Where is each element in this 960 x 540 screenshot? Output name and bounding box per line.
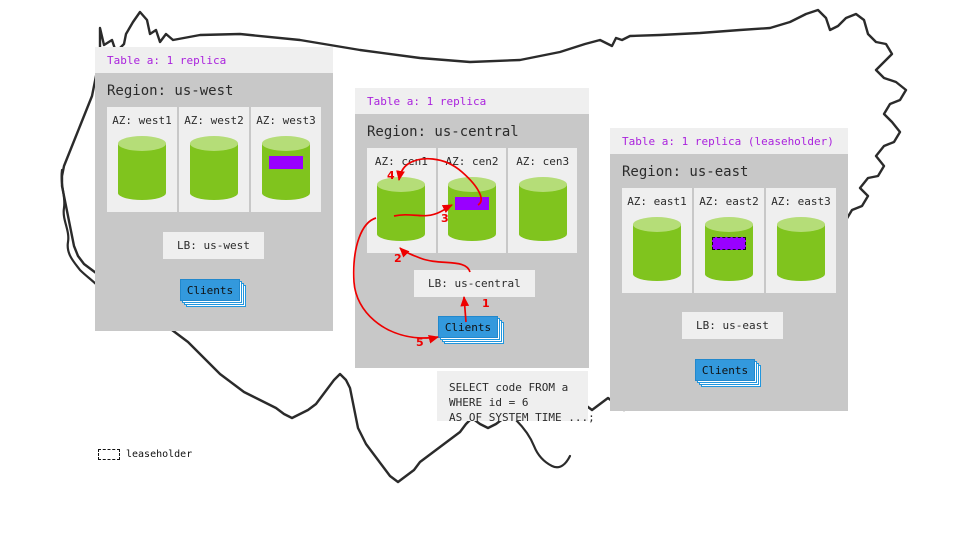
db-node-cylinder-icon[interactable]: [777, 217, 825, 279]
region-header-us-east: Table a: 1 replica (leaseholder): [610, 128, 848, 154]
az-label: AZ: west3: [256, 114, 316, 127]
diagram-canvas: Table a: 1 replica Region: us-west AZ: w…: [0, 0, 960, 540]
az-label: AZ: east1: [627, 195, 687, 208]
db-node-cylinder-icon[interactable]: [190, 136, 238, 198]
arrow-label-2: 2: [394, 252, 402, 265]
db-node-cylinder-icon[interactable]: [633, 217, 681, 279]
az-label: AZ: east3: [771, 195, 831, 208]
clients-box-us-central[interactable]: Clients: [438, 316, 498, 338]
az-east1[interactable]: AZ: east1: [622, 188, 692, 293]
cylinder-top: [633, 217, 681, 232]
sql-query-box: SELECT code FROM a WHERE id = 6 AS OF SY…: [437, 371, 588, 421]
cylinder-top: [448, 177, 496, 192]
az-label: AZ: west2: [184, 114, 244, 127]
region-panel-us-central: Table a: 1 replica Region: us-central AZ…: [355, 88, 589, 368]
replica-badge-west3: [269, 156, 303, 169]
az-row-us-west: AZ: west1 AZ: west2 AZ: west3: [107, 107, 321, 212]
legend-leaseholder: leaseholder: [98, 449, 192, 460]
db-node-cylinder-icon[interactable]: [262, 136, 310, 198]
db-node-cylinder-icon[interactable]: [448, 177, 496, 239]
az-west2[interactable]: AZ: west2: [179, 107, 249, 212]
cylinder-top: [118, 136, 166, 151]
region-header-us-west: Table a: 1 replica: [95, 47, 333, 73]
region-title-us-west: Region: us-west: [95, 73, 333, 107]
az-west3[interactable]: AZ: west3: [251, 107, 321, 212]
clients-box-us-west[interactable]: Clients: [180, 279, 240, 301]
cylinder-top: [377, 177, 425, 192]
az-east2[interactable]: AZ: east2: [694, 188, 764, 293]
az-label: AZ: cen1: [375, 155, 428, 168]
az-east3[interactable]: AZ: east3: [766, 188, 836, 293]
db-node-cylinder-icon[interactable]: [118, 136, 166, 198]
db-node-cylinder-icon[interactable]: [377, 177, 425, 239]
cylinder-top: [190, 136, 238, 151]
az-row-us-east: AZ: east1 AZ: east2 AZ: east3: [622, 188, 836, 293]
db-node-cylinder-icon[interactable]: [705, 217, 753, 279]
arrow-label-3: 3: [441, 212, 449, 225]
arrow-label-4: 4: [387, 169, 395, 182]
load-balancer-us-east[interactable]: LB: us-east: [682, 312, 783, 339]
az-label: AZ: cen3: [516, 155, 569, 168]
az-cen2[interactable]: AZ: cen2: [438, 148, 507, 253]
cylinder-top: [262, 136, 310, 151]
replica-badge-cen2: [455, 197, 489, 210]
cylinder-top: [777, 217, 825, 232]
clients-box-us-east[interactable]: Clients: [695, 359, 755, 381]
dashed-rectangle-icon: [98, 449, 120, 460]
region-title-us-central: Region: us-central: [355, 114, 589, 148]
region-title-us-east: Region: us-east: [610, 154, 848, 188]
az-cen1[interactable]: AZ: cen1: [367, 148, 436, 253]
az-row-us-central: AZ: cen1 AZ: cen2 AZ: cen3: [367, 148, 577, 253]
replica-badge-leaseholder-east2: [712, 237, 746, 250]
region-header-us-central: Table a: 1 replica: [355, 88, 589, 114]
load-balancer-us-central[interactable]: LB: us-central: [414, 270, 535, 297]
region-panel-us-east: Table a: 1 replica (leaseholder) Region:…: [610, 128, 848, 411]
clients-stack-us-east[interactable]: Clients: [695, 359, 763, 389]
az-label: AZ: cen2: [446, 155, 499, 168]
arrow-label-1: 1: [482, 297, 490, 310]
cylinder-top: [519, 177, 567, 192]
az-label: AZ: east2: [699, 195, 759, 208]
az-west1[interactable]: AZ: west1: [107, 107, 177, 212]
arrow-label-5: 5: [416, 336, 424, 349]
az-cen3[interactable]: AZ: cen3: [508, 148, 577, 253]
clients-stack-us-central[interactable]: Clients: [438, 316, 506, 346]
az-label: AZ: west1: [112, 114, 172, 127]
clients-stack-us-west[interactable]: Clients: [180, 279, 248, 309]
cylinder-top: [705, 217, 753, 232]
load-balancer-us-west[interactable]: LB: us-west: [163, 232, 264, 259]
legend-label: leaseholder: [126, 449, 192, 460]
region-panel-us-west: Table a: 1 replica Region: us-west AZ: w…: [95, 47, 333, 331]
db-node-cylinder-icon[interactable]: [519, 177, 567, 239]
